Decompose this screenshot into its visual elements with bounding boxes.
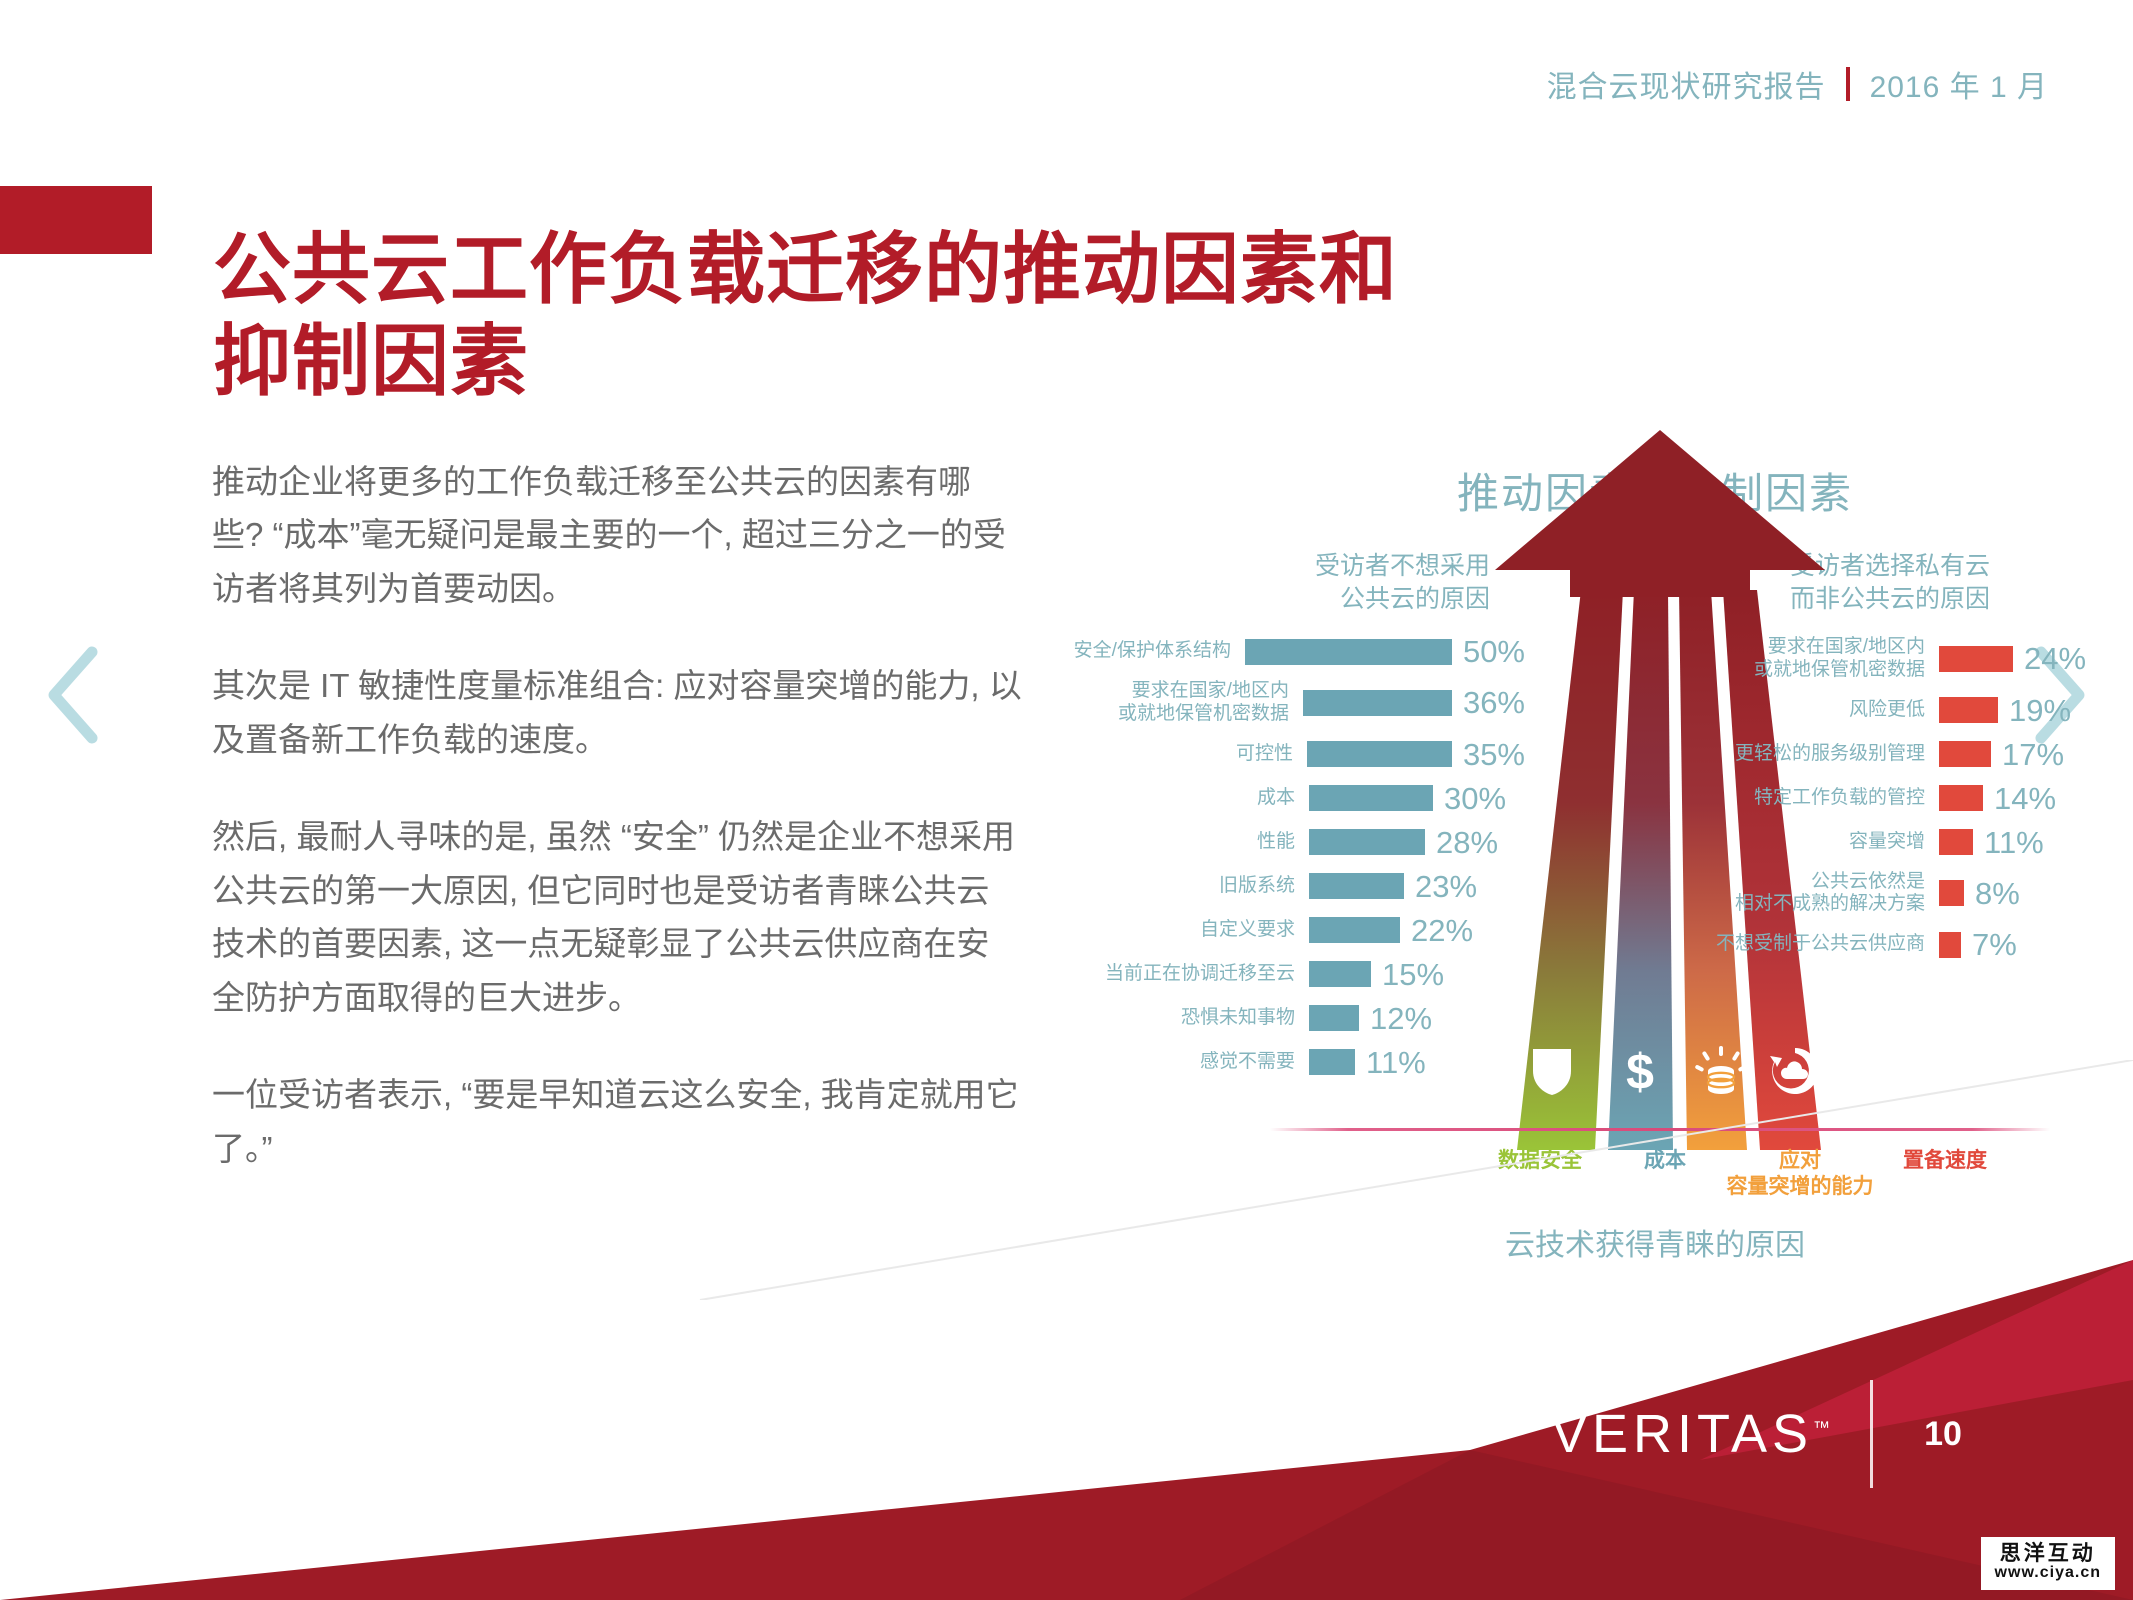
- trademark-symbol: ™: [1813, 1418, 1830, 1437]
- page-number: 10: [1913, 1415, 1973, 1454]
- bar-row: 更轻松的服务级别管理 17%: [1635, 739, 2105, 770]
- bar-row: 自定义要求 22%: [1065, 915, 1525, 946]
- bar-label: 成本: [1065, 787, 1309, 810]
- prev-page-button[interactable]: [40, 640, 110, 750]
- chart-footer-note: 云技术获得青睐的原因: [1210, 1220, 2100, 1264]
- ribbon-icon-row: $: [1495, 1045, 1825, 1115]
- bar-value: 50%: [1463, 636, 1525, 667]
- chart-axis-line: [1270, 1128, 2050, 1131]
- title-accent-block: [0, 186, 152, 254]
- bar-value: 35%: [1463, 739, 1525, 770]
- bar-label: 要求在国家/地区内 或就地保管机密数据: [1635, 636, 1939, 682]
- paragraph-1: 推动企业将更多的工作负载迁移至公共云的因素有哪些? “成本”毫无疑问是最主要的一…: [212, 455, 1022, 615]
- bar-label: 旧版系统: [1065, 875, 1309, 898]
- bar-row: 容量突增 11%: [1635, 827, 2105, 858]
- report-date: 2016 年 1 月: [1870, 62, 2048, 106]
- bar-label: 性能: [1065, 831, 1309, 854]
- page-title: 公共云工作负载迁移的推动因素和 抑制因素: [213, 224, 1463, 407]
- report-title: 混合云现状研究报告: [1547, 62, 1826, 106]
- paragraph-2: 其次是 IT 敏捷性度量标准组合: 应对容量突增的能力, 以及置备新工作负载的速…: [212, 659, 1022, 766]
- body-copy: 推动企业将更多的工作负载迁移至公共云的因素有哪些? “成本”毫无疑问是最主要的一…: [212, 455, 1022, 1175]
- bar-row: 旧版系统 23%: [1065, 871, 1525, 902]
- watermark-name: 思洋互动: [1995, 1543, 2101, 1565]
- watermark-url: www.ciya.cn: [1995, 1565, 2101, 1582]
- bar-fill: [1939, 880, 1964, 906]
- bar-label: 安全/保护体系结构: [1065, 640, 1245, 663]
- bar-fill: [1245, 639, 1452, 665]
- bar-value: 14%: [1994, 783, 2056, 814]
- bar-fill: [1309, 829, 1425, 855]
- bar-row: 恐惧未知事物 12%: [1065, 1003, 1525, 1034]
- dollar-icon: $: [1617, 1045, 1673, 1101]
- bar-label: 更轻松的服务级别管理: [1635, 743, 1939, 766]
- paragraph-3: 然后, 最耐人寻味的是, 虽然 “安全” 仍然是企业不想采用公共云的第一大原因,…: [212, 810, 1022, 1024]
- bar-fill: [1309, 873, 1404, 899]
- slide-header: 混合云现状研究报告 2016 年 1 月: [1547, 62, 2048, 106]
- bar-fill: [1303, 690, 1452, 716]
- bar-label: 特定工作负载的管控: [1635, 787, 1939, 810]
- page-title-line1: 公共云工作负载迁移的推动因素和: [213, 225, 1398, 313]
- header-divider: [1846, 67, 1850, 101]
- bar-label: 公共云依然是 相对不成熟的解决方案: [1635, 871, 1939, 917]
- bar-value: 15%: [1382, 959, 1444, 990]
- veritas-logo: VERITAS™: [1551, 1403, 1830, 1465]
- veritas-logo-text: VERITAS: [1551, 1404, 1813, 1464]
- bar-label: 恐惧未知事物: [1065, 1007, 1309, 1030]
- bar-row: 要求在国家/地区内 或就地保管机密数据 36%: [1065, 680, 1525, 726]
- left-series-heading: 受访者不想采用 公共云的原因: [1185, 550, 1490, 616]
- bar-value: 12%: [1370, 1003, 1432, 1034]
- bar-value: 28%: [1436, 827, 1498, 858]
- svg-text:$: $: [1626, 1045, 1654, 1099]
- category-label-provisioning-speed: 置备速度: [1860, 1148, 2030, 1174]
- page-title-line2: 抑制因素: [213, 317, 529, 405]
- bar-value: 7%: [1972, 929, 2017, 960]
- left-bar-list: 安全/保护体系结构 50% 要求在国家/地区内 或就地保管机密数据 36% 可控…: [1065, 636, 1525, 1091]
- bar-value: 30%: [1444, 783, 1506, 814]
- bar-value: 23%: [1415, 871, 1477, 902]
- bar-fill: [1939, 697, 1998, 723]
- bar-value: 36%: [1463, 687, 1525, 718]
- bar-value: 24%: [2024, 643, 2086, 674]
- shield-icon: [1529, 1045, 1585, 1101]
- bar-fill: [1939, 829, 1973, 855]
- bar-label: 感觉不需要: [1065, 1051, 1309, 1074]
- bar-label: 不想受制于公共云供应商: [1635, 933, 1939, 956]
- cloud-refresh-icon: [1769, 1045, 1825, 1101]
- bar-value: 19%: [2009, 695, 2071, 726]
- paragraph-4: 一位受访者表示, “要是早知道云这么安全, 我肯定就用它了。”: [212, 1068, 1022, 1175]
- bar-fill: [1939, 932, 1961, 958]
- category-label-row: 数据安全 成本 应对 容量突增的能力 置备速度: [1270, 1140, 2050, 1220]
- bar-row: 当前正在协调迁移至云 15%: [1065, 959, 1525, 990]
- bar-fill: [1939, 741, 1991, 767]
- bar-row: 公共云依然是 相对不成熟的解决方案 8%: [1635, 871, 2105, 917]
- bar-row: 成本 30%: [1065, 783, 1525, 814]
- bar-row: 感觉不需要 11%: [1065, 1047, 1525, 1078]
- bar-label: 自定义要求: [1065, 919, 1309, 942]
- data-burst-icon: [1695, 1045, 1751, 1101]
- bar-value: 17%: [2002, 739, 2064, 770]
- category-label-data-security: 数据安全: [1470, 1148, 1610, 1174]
- watermark: 思洋互动 www.ciya.cn: [1981, 1537, 2115, 1590]
- bar-label: 风险更低: [1635, 699, 1939, 722]
- bar-fill: [1309, 785, 1433, 811]
- bar-row: 安全/保护体系结构 50%: [1065, 636, 1525, 667]
- bar-row: 要求在国家/地区内 或就地保管机密数据 24%: [1635, 636, 2105, 682]
- bar-label: 容量突增: [1635, 831, 1939, 854]
- slide: 混合云现状研究报告 2016 年 1 月 公共云工作负载迁移的推动因素和 抑制因…: [0, 0, 2133, 1600]
- bar-label: 当前正在协调迁移至云: [1065, 963, 1309, 986]
- bar-value: 11%: [1366, 1047, 1426, 1078]
- bar-row: 性能 28%: [1065, 827, 1525, 858]
- bar-fill: [1309, 917, 1400, 943]
- chevron-left-icon: [40, 640, 110, 750]
- bar-value: 11%: [1984, 827, 2044, 858]
- bar-fill: [1939, 646, 2013, 672]
- bar-value: 8%: [1975, 878, 2020, 909]
- right-series-heading: 受访者选择私有云 而非公共云的原因: [1790, 550, 2110, 616]
- brand-divider: [1870, 1380, 1873, 1488]
- bar-label: 要求在国家/地区内 或就地保管机密数据: [1065, 680, 1303, 726]
- bar-fill: [1307, 741, 1452, 767]
- bar-fill: [1939, 785, 1983, 811]
- brand-footer: VERITAS™ 10: [1551, 1380, 1973, 1488]
- bar-fill: [1309, 961, 1371, 987]
- chart-panel: 推动因素和抑制因素 受访者不想采用 公共云的原因 受访者选择私有云 而非公共云的…: [1210, 460, 2100, 1260]
- right-bar-list: 要求在国家/地区内 或就地保管机密数据 24% 风险更低 19% 更轻松的服务级…: [1635, 636, 2105, 973]
- bar-row: 特定工作负载的管控 14%: [1635, 783, 2105, 814]
- bar-row: 不想受制于公共云供应商 7%: [1635, 929, 2105, 960]
- bar-row: 可控性 35%: [1065, 739, 1525, 770]
- bar-row: 风险更低 19%: [1635, 695, 2105, 726]
- bar-fill: [1309, 1049, 1355, 1075]
- bar-fill: [1309, 1005, 1359, 1031]
- bar-value: 22%: [1411, 915, 1473, 946]
- bar-label: 可控性: [1065, 743, 1307, 766]
